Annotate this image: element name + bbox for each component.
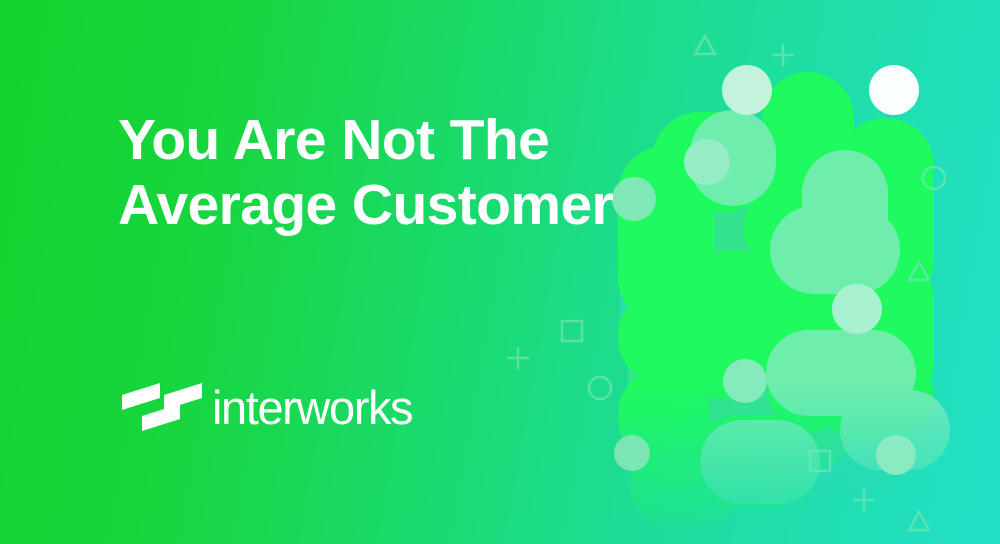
interworks-wordmark: interworks xyxy=(212,384,412,431)
interworks-logo[interactable]: interworks xyxy=(120,381,412,433)
page-title: You Are Not TheAverage Customer xyxy=(118,108,613,238)
interworks-logo-mark xyxy=(120,381,202,433)
banner-content: You Are Not TheAverage Customer interwor… xyxy=(0,0,1000,544)
headline-line-1: You Are Not The xyxy=(118,108,613,173)
marketing-banner: You Are Not TheAverage Customer interwor… xyxy=(0,0,1000,544)
headline-line-2: Average Customer xyxy=(118,173,613,238)
